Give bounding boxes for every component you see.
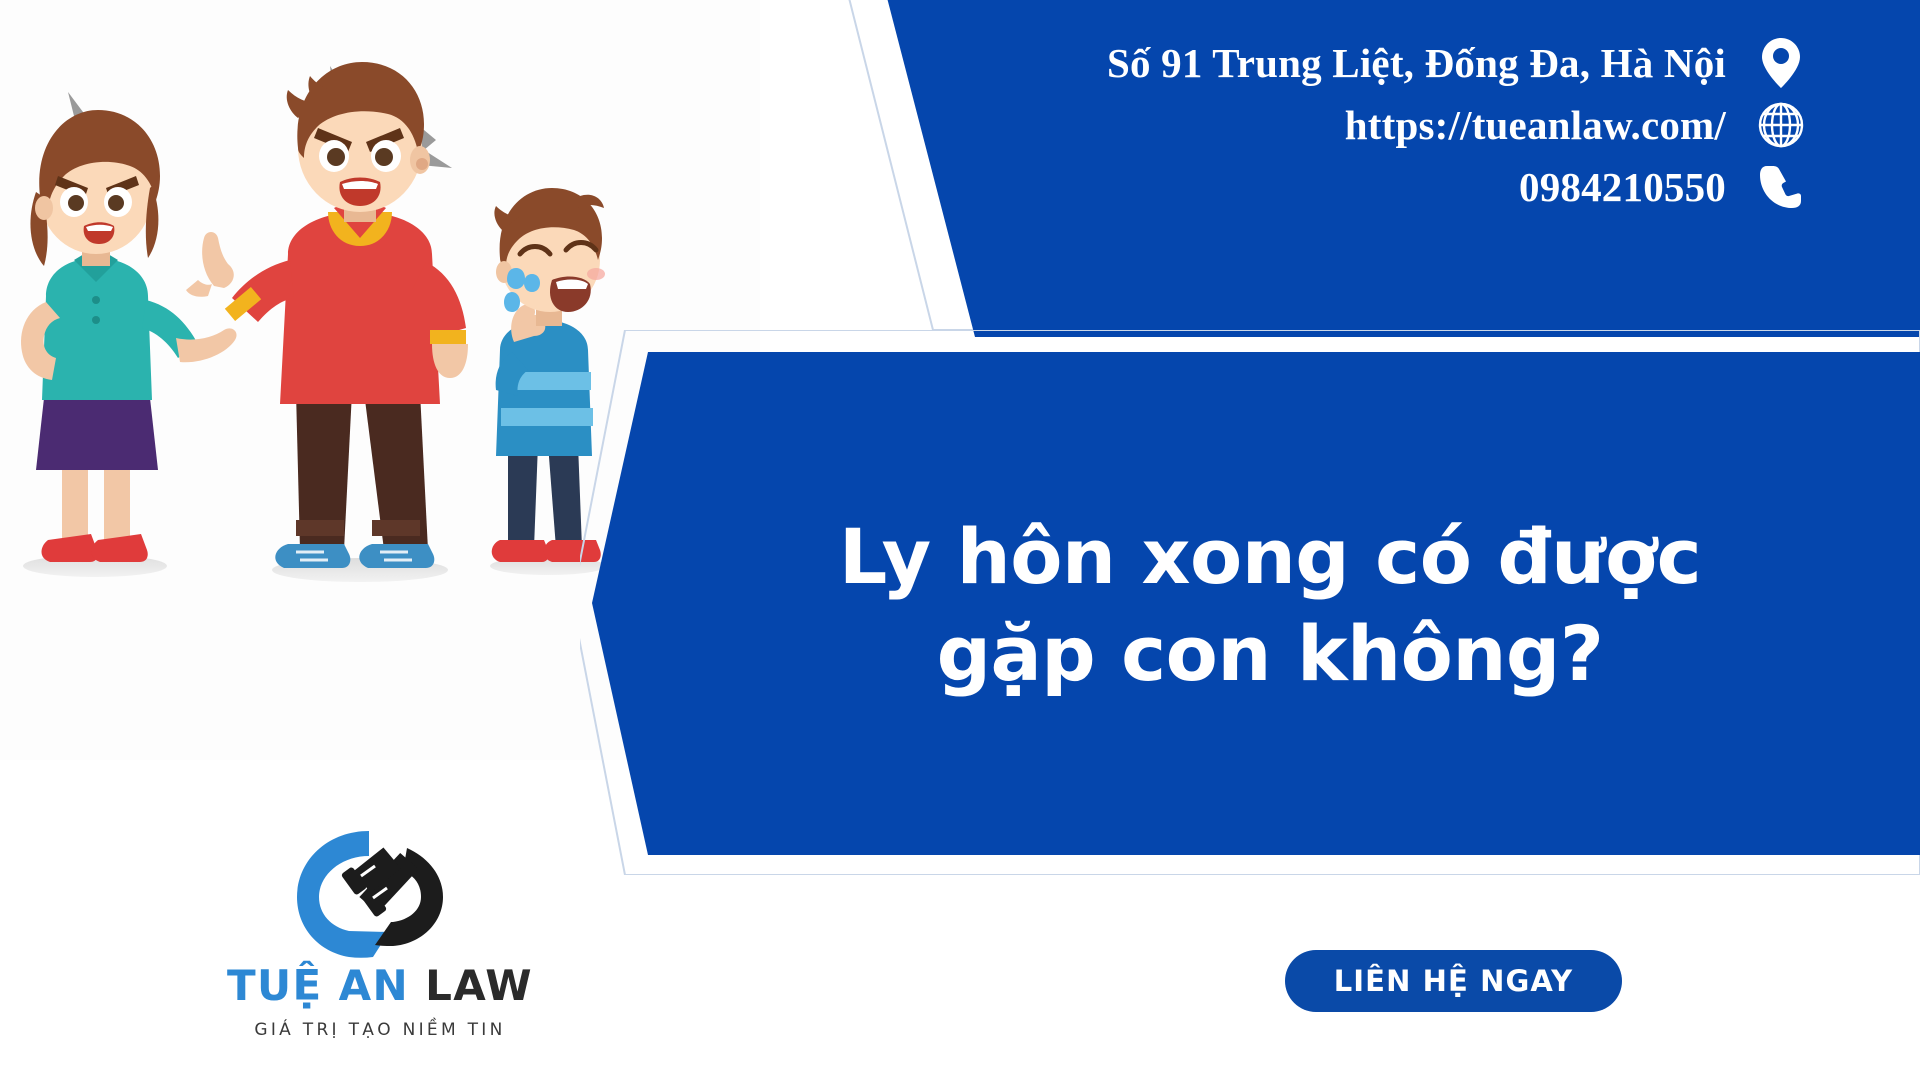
company-logo[interactable]: TUỆ AN LAW GIÁ TRỊ TẠO NIỀM TIN [232,828,528,1053]
contact-row-address: Số 91 Trung Liệt, Đống Đa, Hà Nội [1107,34,1810,92]
headline-text: Ly hôn xong có được gặp con không? [640,380,1900,830]
contact-phone-text: 0984210550 [1519,163,1726,211]
company-logo-name-part2: LAW [425,961,533,1010]
headline-line-2: gặp con không? [937,605,1604,702]
contact-info-list: Số 91 Trung Liệt, Đống Đa, Hà Nội https:… [1107,34,1810,216]
contact-now-button[interactable]: LIÊN HỆ NGAY [1285,950,1622,1012]
contact-row-website: https://tueanlaw.com/ [1345,96,1810,154]
gavel-shield-logo-icon [289,828,471,960]
banner-stage: Số 91 Trung Liệt, Đống Đa, Hà Nội https:… [0,0,1920,1080]
contact-website-text: https://tueanlaw.com/ [1345,101,1726,149]
phone-icon [1752,158,1810,216]
company-logo-tagline: GIÁ TRỊ TẠO NIỀM TIN [254,1020,505,1040]
contact-row-phone: 0984210550 [1519,158,1810,216]
company-logo-name: TUỆ AN LAW [227,965,533,1007]
globe-icon [1752,96,1810,154]
contact-now-button-label: LIÊN HỆ NGAY [1334,964,1574,998]
contact-address-text: Số 91 Trung Liệt, Đống Đa, Hà Nội [1107,39,1726,87]
headline-line-1: Ly hôn xong có được [839,508,1701,605]
company-logo-name-part1: TUỆ AN [227,961,425,1010]
location-pin-icon [1752,34,1810,92]
